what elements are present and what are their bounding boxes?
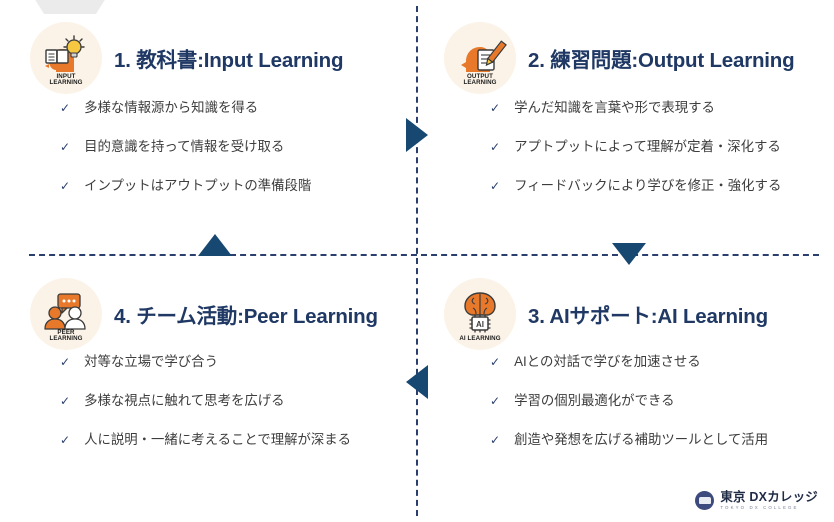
check-icon: ✓ [490, 139, 500, 155]
list-item-label: 多様な視点に触れて思考を広げる [84, 393, 284, 410]
check-icon: ✓ [60, 393, 70, 409]
list-item: ✓ インプットはアウトプットの準備段階 [60, 178, 410, 195]
quadrant-header: PEER LEARNING 4. チーム活動:Peer Learning [30, 278, 378, 350]
check-icon: ✓ [490, 354, 500, 370]
check-icon: ✓ [490, 432, 500, 448]
list-item: ✓ 学習の個別最適化ができる [490, 393, 830, 410]
list-item-label: 人に説明・一緒に考えることで理解が深まる [84, 432, 351, 449]
list-item: ✓ 目的意識を持って情報を受け取る [60, 139, 410, 156]
svg-text:AI: AI [476, 320, 484, 329]
quadrant-header: OUTPUT LEARNING 2. 練習問題:Output Learning [444, 22, 794, 94]
check-icon: ✓ [60, 178, 70, 194]
list-item-label: 学んだ知識を言葉や形で表現する [514, 100, 715, 117]
bullet-list: ✓ 多様な情報源から知識を得る ✓ 目的意識を持って情報を受け取る ✓ インプッ… [60, 100, 410, 216]
bullet-list: ✓ 対等な立場で学び合う ✓ 多様な視点に触れて思考を広げる ✓ 人に説明・一緒… [60, 354, 410, 470]
quadrant-title: 3. AIサポート:AI Learning [528, 299, 768, 329]
tokyo-dx-college-emblem-icon [695, 491, 714, 510]
list-item-label: 多様な情報源から知識を得る [84, 100, 258, 117]
check-icon: ✓ [490, 178, 500, 194]
bullet-list: ✓ 学んだ知識を言葉や形で表現する ✓ アプトプットによって理解が定着・深化する… [490, 100, 830, 216]
icon-caption: OUTPUT LEARNING [444, 74, 516, 87]
icon-caption: AI LEARNING [444, 336, 516, 343]
list-item: ✓ アプトプットによって理解が定着・深化する [490, 139, 830, 156]
quadrant-ai-learning: AI [418, 256, 834, 510]
list-item-label: 目的意識を持って情報を受け取る [84, 139, 284, 156]
brand-tagline: TOKYO DX COLLEGE [720, 506, 818, 510]
quadrant-title: 2. 練習問題:Output Learning [528, 43, 794, 73]
brain-chip-icon: AI [444, 278, 516, 350]
list-item-label: AIとの対話で学びを加速させる [514, 354, 701, 371]
icon-caption-line1: AI LEARNING [444, 336, 516, 343]
check-icon: ✓ [60, 354, 70, 370]
list-item-label: 対等な立場で学び合う [84, 354, 218, 371]
list-item: ✓ 多様な情報源から知識を得る [60, 100, 410, 117]
head-pencil-note-icon: OUTPUT LEARNING [444, 22, 516, 94]
quadrant-header: AI [444, 278, 768, 350]
check-icon: ✓ [60, 432, 70, 448]
list-item-label: 創造や発想を広げる補助ツールとして活用 [514, 432, 768, 449]
list-item-label: アプトプットによって理解が定着・深化する [514, 139, 781, 156]
list-item: ✓ 学んだ知識を言葉や形で表現する [490, 100, 830, 117]
bullet-list: ✓ AIとの対話で学びを加速させる ✓ 学習の個別最適化ができる ✓ 創造や発想… [490, 354, 830, 470]
check-icon: ✓ [60, 139, 70, 155]
brand-text: 東京 DXカレッジ TOKYO DX COLLEGE [720, 491, 818, 510]
quadrant-header: INPUT LEARNING 1. 教科書:Input Learning [30, 22, 343, 94]
list-item: ✓ AIとの対話で学びを加速させる [490, 354, 830, 371]
head-book-lightbulb-icon: INPUT LEARNING [30, 22, 102, 94]
icon-caption: INPUT LEARNING [30, 74, 102, 87]
quadrant-input-learning: INPUT LEARNING 1. 教科書:Input Learning ✓ 多… [0, 0, 416, 254]
list-item: ✓ 創造や発想を広げる補助ツールとして活用 [490, 432, 830, 449]
quadrant-peer-learning: PEER LEARNING 4. チーム活動:Peer Learning ✓ 対… [0, 256, 416, 510]
list-item: ✓ フィードバックにより学びを修正・強化する [490, 178, 830, 195]
icon-caption-line2: LEARNING [444, 80, 516, 87]
two-people-speech-bubble-icon: PEER LEARNING [30, 278, 102, 350]
brand-logo: 東京 DXカレッジ TOKYO DX COLLEGE [695, 491, 818, 510]
check-icon: ✓ [60, 100, 70, 116]
list-item: ✓ 対等な立場で学び合う [60, 354, 410, 371]
check-icon: ✓ [490, 100, 500, 116]
list-item-label: 学習の個別最適化ができる [514, 393, 674, 410]
check-icon: ✓ [490, 393, 500, 409]
list-item-label: インプットはアウトプットの準備段階 [84, 178, 311, 195]
icon-caption: PEER LEARNING [30, 330, 102, 343]
list-item: ✓ 多様な視点に触れて思考を広げる [60, 393, 410, 410]
icon-caption-line2: LEARNING [30, 80, 102, 87]
slide-canvas: INPUT LEARNING 1. 教科書:Input Learning ✓ 多… [0, 0, 834, 522]
list-item-label: フィードバックにより学びを修正・強化する [514, 178, 781, 195]
quadrant-title: 4. チーム活動:Peer Learning [114, 299, 378, 329]
icon-caption-line2: LEARNING [30, 336, 102, 343]
quadrant-title: 1. 教科書:Input Learning [114, 43, 343, 73]
list-item: ✓ 人に説明・一緒に考えることで理解が深まる [60, 432, 410, 449]
quadrant-output-learning: OUTPUT LEARNING 2. 練習問題:Output Learning … [418, 0, 834, 254]
brand-name: 東京 DXカレッジ [720, 491, 818, 504]
